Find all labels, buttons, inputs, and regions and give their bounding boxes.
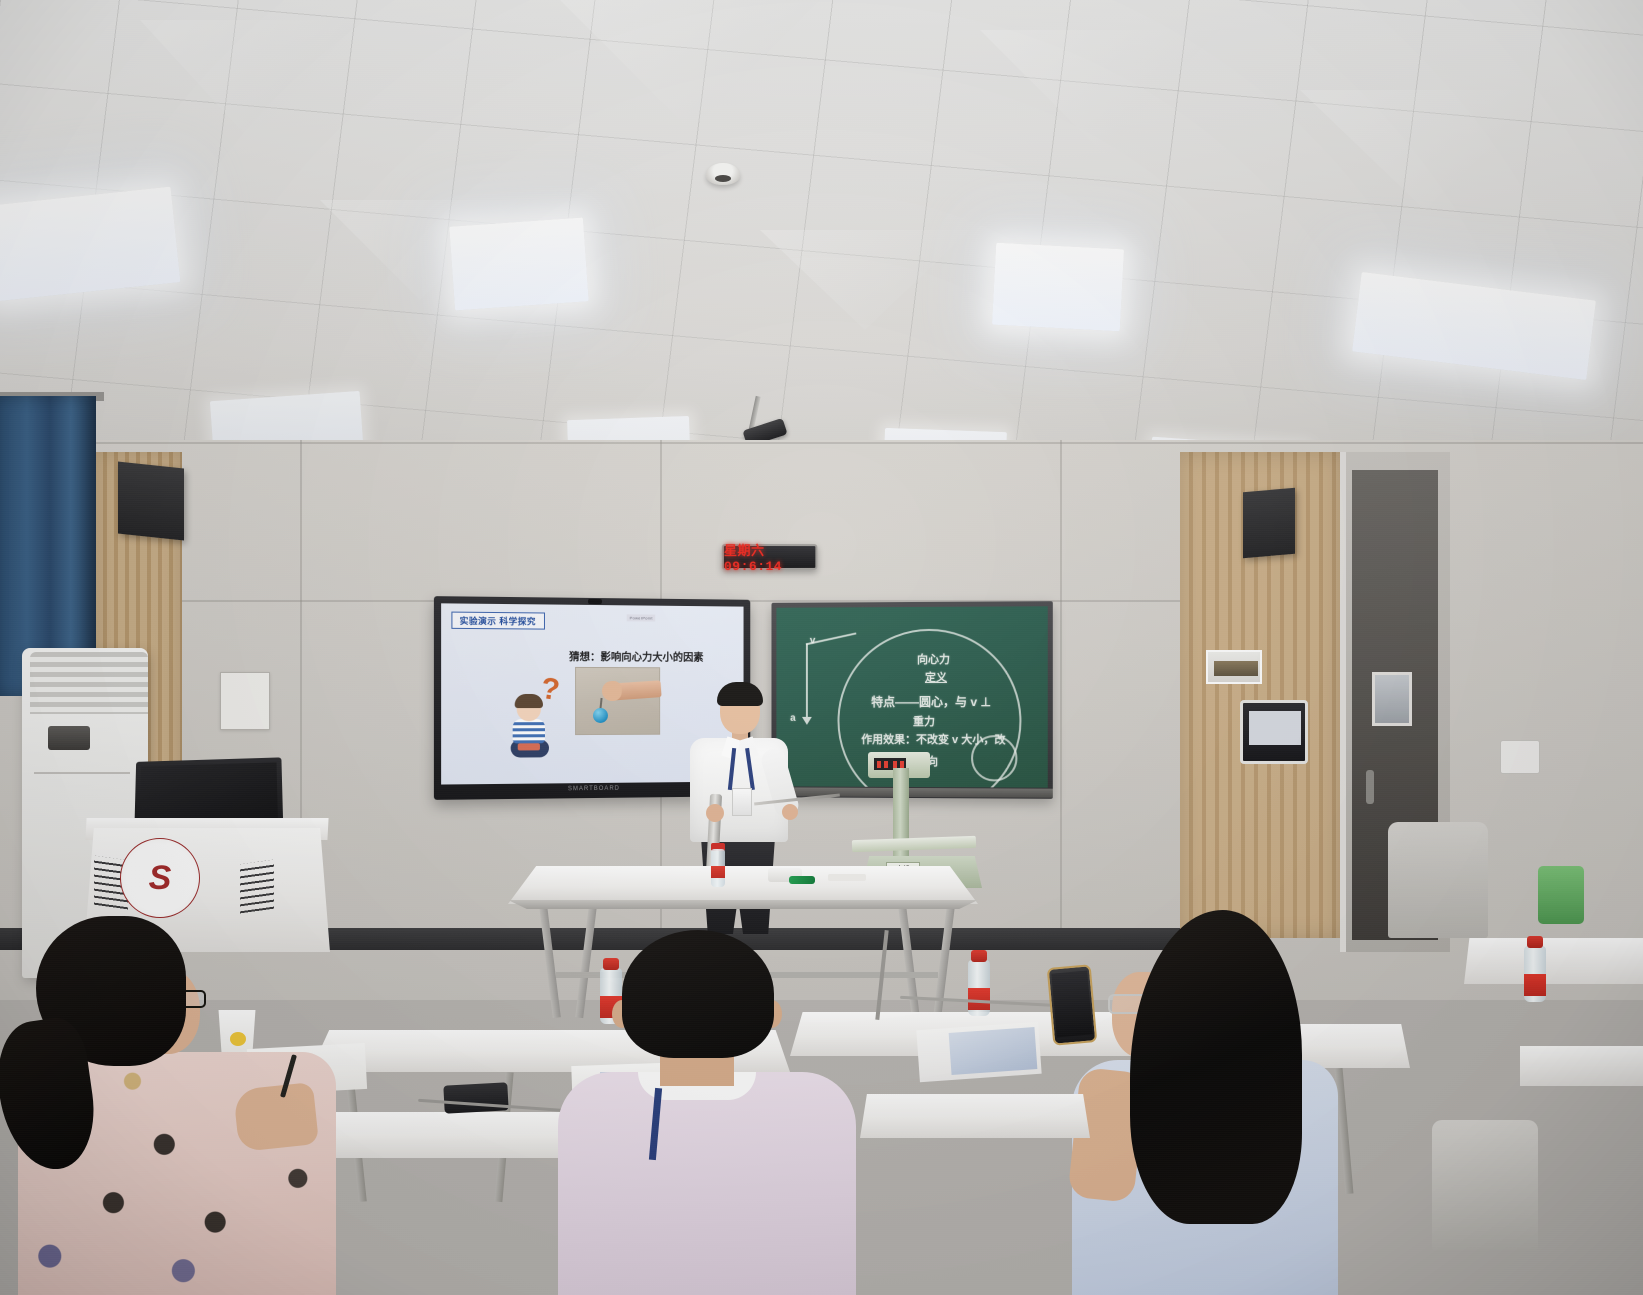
air-conditioner-display xyxy=(48,726,90,750)
university-emblem-icon: S xyxy=(120,838,200,918)
bottle-cap xyxy=(971,950,987,962)
wall-speaker-right xyxy=(1243,488,1295,559)
observer-middle xyxy=(546,930,856,1295)
observer-right-hair xyxy=(1130,910,1302,1224)
green-bin xyxy=(1538,866,1584,924)
child-book xyxy=(518,743,540,750)
chalk-note-effect: 作用效果：不改变 v 大小，改 xyxy=(861,731,1005,747)
demonstration-table xyxy=(508,866,978,904)
ceiling-light-2 xyxy=(449,217,589,310)
side-table xyxy=(1464,938,1643,984)
led-wall-clock: 星期六 09:6:14 xyxy=(722,544,817,570)
wall-plaque xyxy=(1206,650,1262,684)
teacher-hand-right xyxy=(782,804,798,820)
slide-title-badge: 实验演示 科学探究 xyxy=(451,612,545,630)
bottle-label xyxy=(711,866,725,878)
water-bottle-desk-b xyxy=(968,950,990,1020)
wall-seam xyxy=(0,442,1643,444)
child-body xyxy=(513,719,545,743)
observer-middle-hair xyxy=(622,930,774,1058)
slide-corner-tag: PowerPoint xyxy=(627,614,656,621)
air-conditioner-seam xyxy=(34,772,130,774)
photo-blue-ball xyxy=(593,708,608,723)
side-chair[interactable] xyxy=(1388,822,1488,938)
slide-child-illustration xyxy=(509,697,551,760)
classroom-scene: 星期六 09:6:14 实验演示 科学探究 PowerPoint 猜想：影响向心… xyxy=(0,0,1643,1295)
podium-monitor-screen[interactable] xyxy=(139,762,278,826)
wall-notice-sheet xyxy=(220,672,270,730)
door-window xyxy=(1372,672,1412,726)
led-clock-text: 星期六 09:6:14 xyxy=(724,540,816,574)
air-conditioner-grille xyxy=(30,652,148,714)
smoke-detector-icon xyxy=(706,163,740,185)
light-switch[interactable] xyxy=(1500,740,1540,774)
teacher-hair xyxy=(717,682,763,706)
observer-left xyxy=(0,908,330,1295)
observer-left-arm xyxy=(233,1082,319,1152)
side-chair-2[interactable] xyxy=(1432,1120,1538,1250)
water-bottle-side-table xyxy=(1524,936,1546,996)
display-brand-label: SMARTBOARD xyxy=(564,786,624,795)
child-hair xyxy=(515,694,543,708)
marker-pen xyxy=(789,876,815,884)
slide-heading: 猜想：影响向心力大小的因素 xyxy=(569,649,703,665)
wall-control-touch-panel[interactable] xyxy=(1240,700,1308,764)
slide-title-text: 实验演示 科学探究 xyxy=(460,614,536,627)
desk-small-items xyxy=(828,874,866,881)
chalk-note-characteristic: 特点——圆心，与 v ⊥ xyxy=(871,693,991,710)
demonstration-table-edge xyxy=(508,900,978,909)
display-camera-icon xyxy=(588,599,602,604)
student-desk-row-e xyxy=(860,1094,1090,1138)
chalk-axis-vertical xyxy=(806,643,808,717)
bottle-cap xyxy=(1527,936,1543,948)
chalk-note-gravity: 重力 xyxy=(913,713,935,729)
observer-middle-body xyxy=(558,1072,856,1295)
student-desk-row-d xyxy=(318,1112,568,1158)
wall-seam xyxy=(1060,440,1062,930)
photo-hand xyxy=(602,681,622,701)
booklet-right xyxy=(949,1027,1038,1075)
teacher-id-badge xyxy=(732,788,752,816)
chalk-note-topic: 向心力 xyxy=(917,651,950,667)
door-handle[interactable] xyxy=(1366,770,1374,804)
ceiling xyxy=(0,0,1643,470)
smartphone-screen[interactable] xyxy=(1051,971,1092,1038)
ceiling-light-3 xyxy=(992,243,1124,332)
wall-speaker-left xyxy=(118,462,184,541)
bottle-label xyxy=(1524,974,1546,996)
touch-panel-screen[interactable] xyxy=(1249,711,1301,745)
chalk-label-v: v xyxy=(810,635,815,646)
tablet-device[interactable] xyxy=(443,1082,508,1113)
ceiling-light-1 xyxy=(0,187,181,302)
teacher-hand-left xyxy=(706,804,724,822)
slide-photo-ball-on-string xyxy=(575,667,660,735)
side-table-2 xyxy=(1520,1046,1643,1086)
chalk-note-definition: 定义 xyxy=(925,669,947,685)
